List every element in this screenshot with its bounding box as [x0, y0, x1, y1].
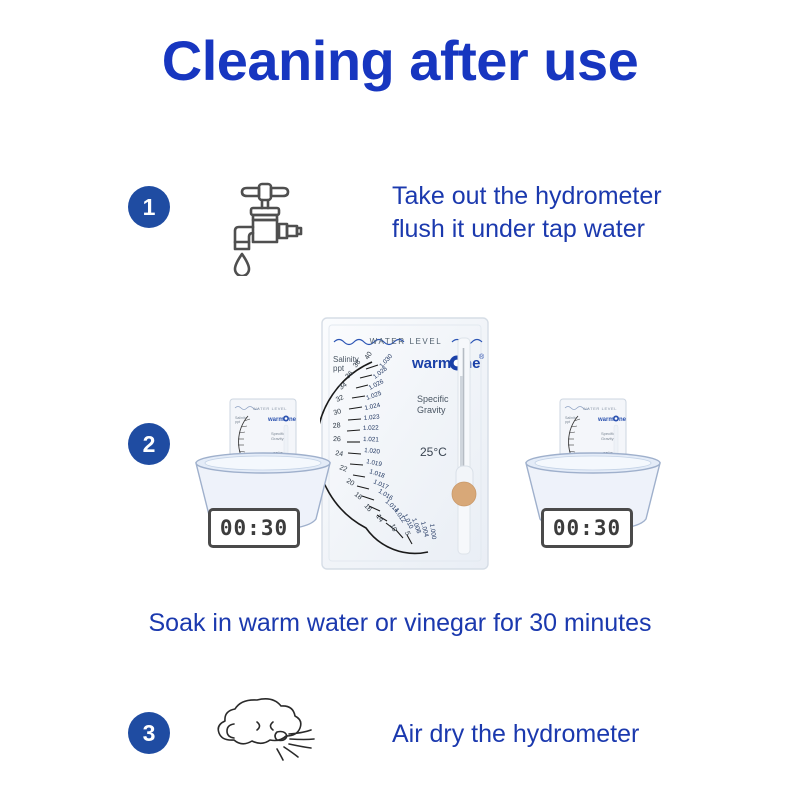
- step-badge-1: 1: [128, 186, 170, 228]
- tap-faucet-icon: [213, 172, 317, 276]
- step-3-text-line1: Air dry the hydrometer: [392, 718, 732, 751]
- svg-text:ppt: ppt: [565, 420, 570, 424]
- svg-text:WATER LEVEL: WATER LEVEL: [253, 406, 287, 411]
- brand-logo: warmt ne ®: [411, 353, 485, 372]
- temperature-label: 25°C: [420, 445, 447, 459]
- page-title: Cleaning after use: [0, 28, 800, 93]
- timer-display-right: 00:30: [541, 508, 633, 548]
- water-level-label: WATER LEVEL: [370, 337, 443, 346]
- svg-text:WATER LEVEL: WATER LEVEL: [583, 406, 617, 411]
- svg-text:warmt: warmt: [597, 417, 616, 423]
- step-badge-3: 3: [128, 712, 170, 754]
- step-3-text: Air dry the hydrometer: [392, 718, 732, 751]
- salinity-label-line2: ppt: [333, 364, 345, 373]
- step-badge-2: 2: [128, 423, 170, 465]
- step-2-caption: Soak in warm water or vinegar for 30 min…: [0, 609, 800, 638]
- svg-text:Gravity: Gravity: [271, 436, 284, 441]
- blowing-wind-cloud-icon: [205, 694, 327, 772]
- step-1-text: Take out the hydrometer flush it under t…: [392, 180, 752, 246]
- step-1-text-line1: Take out the hydrometer: [392, 180, 752, 213]
- svg-text:1.022: 1.022: [363, 424, 379, 432]
- svg-text:warmt: warmt: [267, 417, 286, 423]
- svg-text:Gravity: Gravity: [601, 436, 614, 441]
- svg-text:ppt: ppt: [235, 420, 240, 424]
- svg-text:ne: ne: [619, 417, 627, 423]
- svg-text:ne: ne: [289, 417, 297, 423]
- infographic-page: Cleaning after use 1 T: [0, 0, 800, 800]
- brand-registered-icon: ®: [479, 353, 485, 361]
- svg-text:1.021: 1.021: [363, 436, 379, 444]
- timer-display-left: 00:30: [208, 508, 300, 548]
- specific-gravity-label-line1: Specific: [417, 394, 449, 404]
- step-1-text-line2: flush it under tap water: [392, 213, 752, 246]
- needle-float: [452, 482, 476, 506]
- specific-gravity-label-line2: Gravity: [417, 405, 446, 415]
- brand-name: warmt: [411, 355, 456, 372]
